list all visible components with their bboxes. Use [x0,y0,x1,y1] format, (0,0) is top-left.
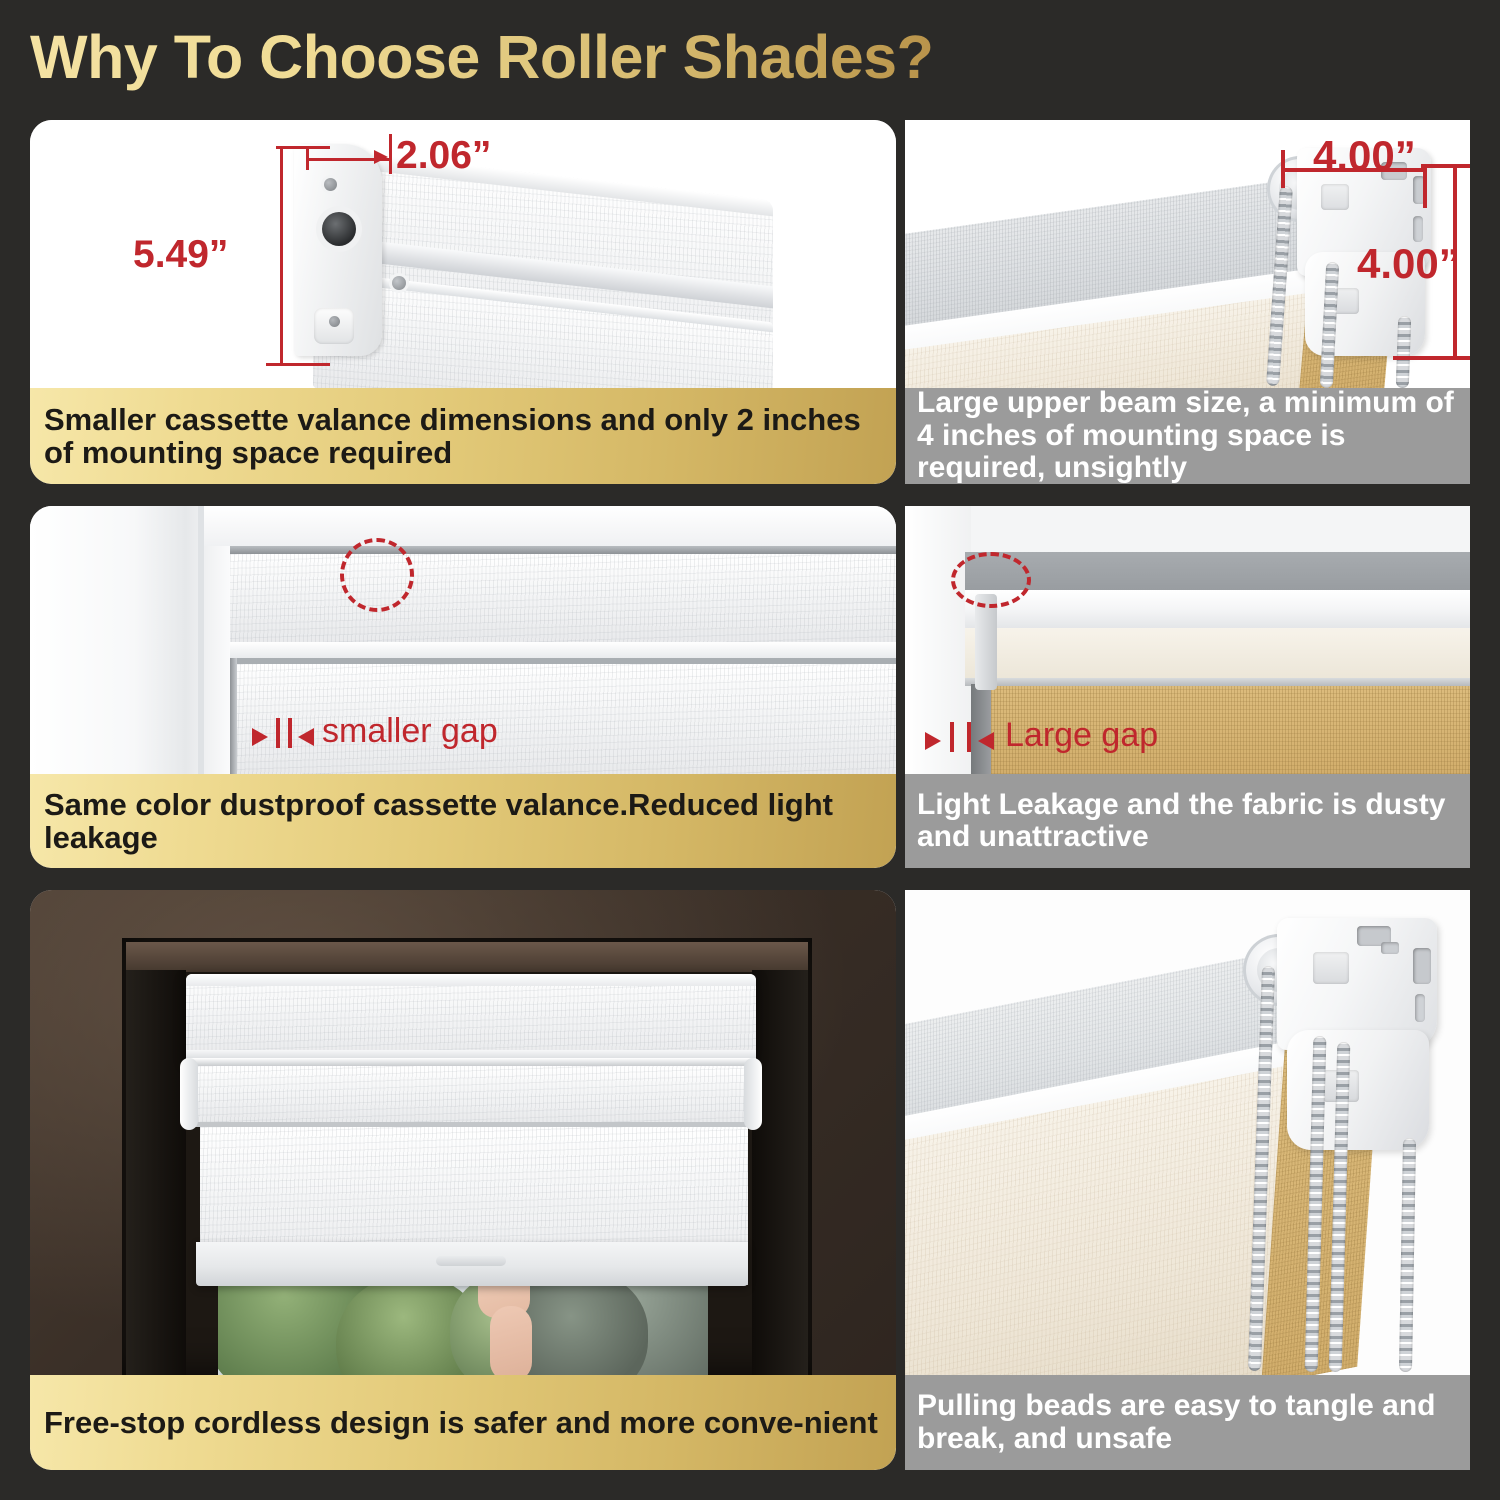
gap-label: smaller gap [322,712,498,751]
height-tick-top [276,146,330,149]
caption-text: Light Leakage and the fabric is dusty an… [917,789,1456,854]
bracket-logo-icon [1313,952,1349,984]
bead-chain [1396,316,1412,388]
panel-top-right-caption: Large upper beam size, a minimum of 4 in… [905,388,1470,484]
panel-top-right-image: 4.00” 4.00” [905,120,1470,388]
panel-bottom-right-image [905,890,1470,1375]
height-dimension-label: 5.49” [133,233,228,277]
panel-mid-right-caption: Light Leakage and the fabric is dusty an… [905,774,1470,868]
highlight-circle [340,538,414,612]
caption-text: Large upper beam size, a minimum of 4 in… [917,387,1456,484]
gap-tick [950,722,954,752]
panel-mid-right-image: Large gap [905,506,1470,774]
width-arrow-right [374,150,388,164]
gap-arrow-left [978,732,994,750]
panel-bottom-right-caption: Pulling beads are easy to tangle and bre… [905,1375,1470,1470]
width-tick-left [1281,150,1285,188]
cassette-valance [186,974,756,1060]
highlight-circle [951,552,1031,608]
gap-arrow-right [925,732,941,750]
height-tick-bottom [266,363,330,366]
width-tick-right [389,134,392,174]
gap-arrow-left [298,728,314,746]
panel-bottom-left: Free-stop cordless design is safer and m… [30,890,896,1470]
gap-arrow-right [252,728,268,746]
panel-top-left: 2.06” 5.49” Smaller cassette valance dim… [30,120,896,484]
caption-text: Same color dustproof cassette valance.Re… [44,788,882,855]
width-tick-left [306,146,309,170]
width-dimension-label: 4.00” [1313,132,1416,180]
gap-tick [276,718,280,748]
width-dimension-label: 2.06” [396,134,491,178]
panel-bottom-left-image [30,890,896,1375]
page-title: Why To Choose Roller Shades? [30,22,933,92]
cassette-valance [230,554,896,642]
height-tick-top [1421,164,1470,168]
caption-text: Free-stop cordless design is safer and m… [44,1406,882,1439]
height-tick-bottom [1393,356,1470,360]
panel-top-left-image: 2.06” 5.49” [30,120,896,394]
caption-text: Pulling beads are easy to tangle and bre… [917,1390,1456,1455]
height-dimension-line [280,146,283,366]
panel-bottom-right: Pulling beads are easy to tangle and bre… [905,890,1470,1470]
gap-tick [967,722,971,752]
width-tick-right [1423,166,1427,208]
panel-mid-left: smaller gap Same color dustproof cassett… [30,506,896,868]
gap-label: Large gap [1005,716,1158,755]
height-dimension-label: 4.00” [1357,240,1460,288]
panel-mid-right: Large gap Light Leakage and the fabric i… [905,506,1470,868]
light-gap [971,684,991,774]
infographic-root: Why To Choose Roller Shades? [0,0,1500,1500]
gap-tick [288,718,292,748]
panel-top-left-caption: Smaller cassette valance dimensions and … [30,388,896,484]
panel-mid-left-image: smaller gap [30,506,896,774]
valance-roller-slot [322,212,356,246]
panel-top-right: 4.00” 4.00” Large upper beam size, a min… [905,120,1470,484]
bead-chain [1399,1138,1416,1372]
panel-mid-left-caption: Same color dustproof cassette valance.Re… [30,774,896,868]
caption-text: Smaller cassette valance dimensions and … [44,403,882,470]
panel-bottom-left-caption: Free-stop cordless design is safer and m… [30,1375,896,1470]
